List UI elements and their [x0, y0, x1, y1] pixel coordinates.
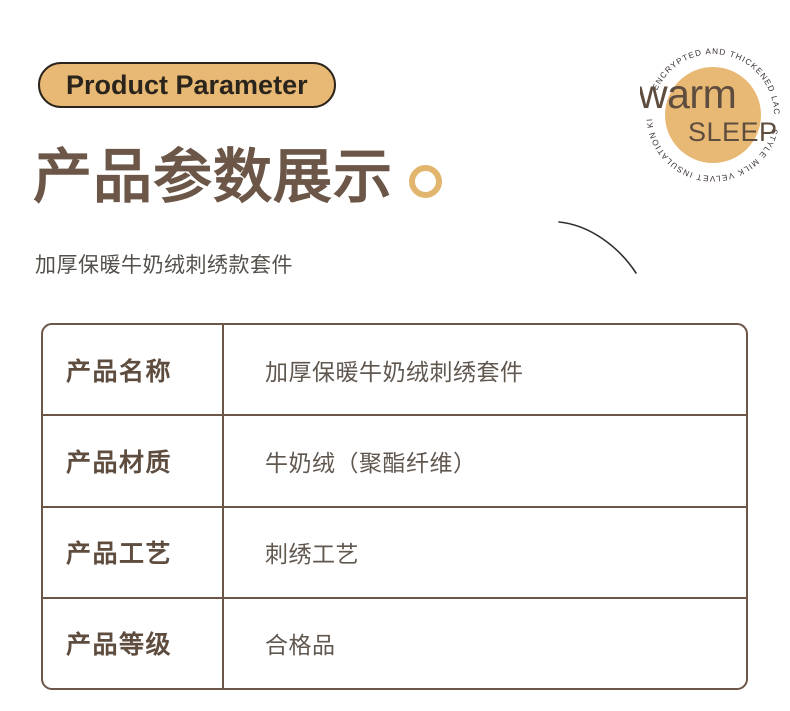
page-title-row: 产品参数展示	[33, 148, 442, 207]
decorative-arc	[545, 205, 655, 285]
table-row-value: 加厚保暖牛奶绒刺绣套件	[224, 325, 746, 414]
table-row: 产品等级 合格品	[43, 599, 746, 688]
warm-sleep-stamp: ENCRYPTED AND THICKENED LACE STYLE MILK …	[640, 42, 786, 188]
page-title: 产品参数展示	[33, 148, 393, 207]
table-row: 产品名称 加厚保暖牛奶绒刺绣套件	[43, 325, 746, 416]
product-parameter-table: 产品名称 加厚保暖牛奶绒刺绣套件 产品材质 牛奶绒（聚酯纤维） 产品工艺 刺绣工…	[41, 323, 748, 690]
table-row-value: 牛奶绒（聚酯纤维）	[224, 416, 746, 505]
table-row-label: 产品等级	[43, 599, 224, 688]
table-row-label: 产品名称	[43, 325, 224, 414]
stamp-word-secondary: SLEEP	[688, 117, 778, 147]
stamp-word-primary: warm	[640, 71, 736, 117]
table-row: 产品材质 牛奶绒（聚酯纤维）	[43, 416, 746, 507]
table-row-value: 刺绣工艺	[224, 508, 746, 597]
table-row-label: 产品材质	[43, 416, 224, 505]
table-row: 产品工艺 刺绣工艺	[43, 508, 746, 599]
page-subtitle: 加厚保暖牛奶绒刺绣款套件	[35, 253, 293, 278]
ring-circle-icon	[409, 165, 442, 198]
table-row-value: 合格品	[224, 599, 746, 688]
product-parameter-pill: Product Parameter	[38, 62, 336, 108]
product-parameter-pill-label: Product Parameter	[66, 72, 308, 99]
table-row-label: 产品工艺	[43, 508, 224, 597]
